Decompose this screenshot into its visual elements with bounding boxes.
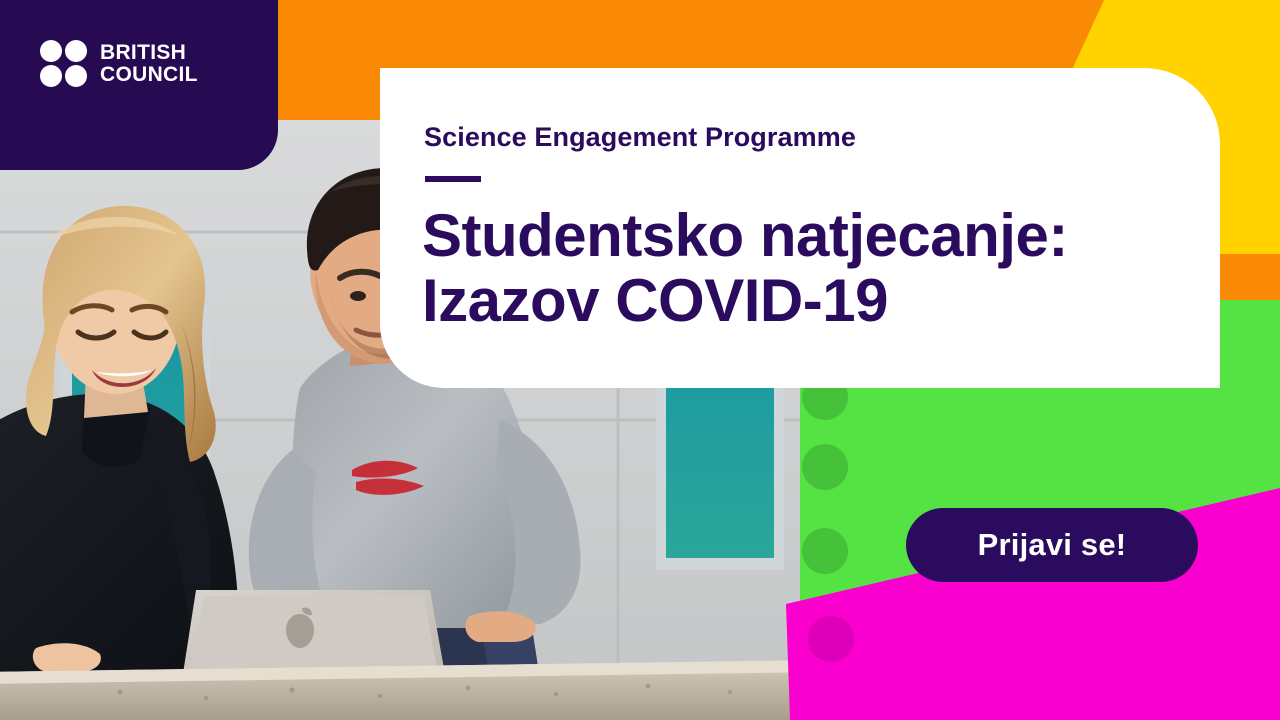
british-council-logo: BRITISH COUNCIL bbox=[40, 40, 198, 87]
logo-dot-icon bbox=[65, 40, 87, 62]
decorative-dot-3 bbox=[802, 528, 848, 574]
headline-card: Science Engagement Programme Studentsko … bbox=[380, 68, 1220, 388]
logo-dot-icon bbox=[40, 65, 62, 87]
decorative-dot-2 bbox=[802, 444, 848, 490]
logo-dot-icon bbox=[40, 40, 62, 62]
logo-dot-icon bbox=[65, 65, 87, 87]
apply-button[interactable]: Prijavi se! bbox=[906, 508, 1198, 582]
brand-panel: BRITISH COUNCIL bbox=[0, 0, 278, 170]
logo-wordmark-line1: BRITISH bbox=[100, 42, 198, 64]
headline-line-1: Studentsko natjecanje: bbox=[422, 204, 1202, 269]
promo-banner: BRITISH COUNCIL Science Engagement Progr… bbox=[0, 0, 1280, 720]
programme-kicker: Science Engagement Programme bbox=[424, 122, 856, 153]
page-title: Studentsko natjecanje: Izazov COVID-19 bbox=[422, 204, 1202, 334]
apply-button-label: Prijavi se! bbox=[978, 527, 1127, 563]
logo-dots-icon bbox=[40, 40, 87, 87]
headline-line-2: Izazov COVID-19 bbox=[422, 269, 1202, 334]
decorative-dot-4 bbox=[808, 616, 854, 662]
divider-rule bbox=[425, 176, 481, 182]
logo-wordmark-line2: COUNCIL bbox=[100, 64, 198, 86]
logo-wordmark: BRITISH COUNCIL bbox=[100, 42, 198, 85]
